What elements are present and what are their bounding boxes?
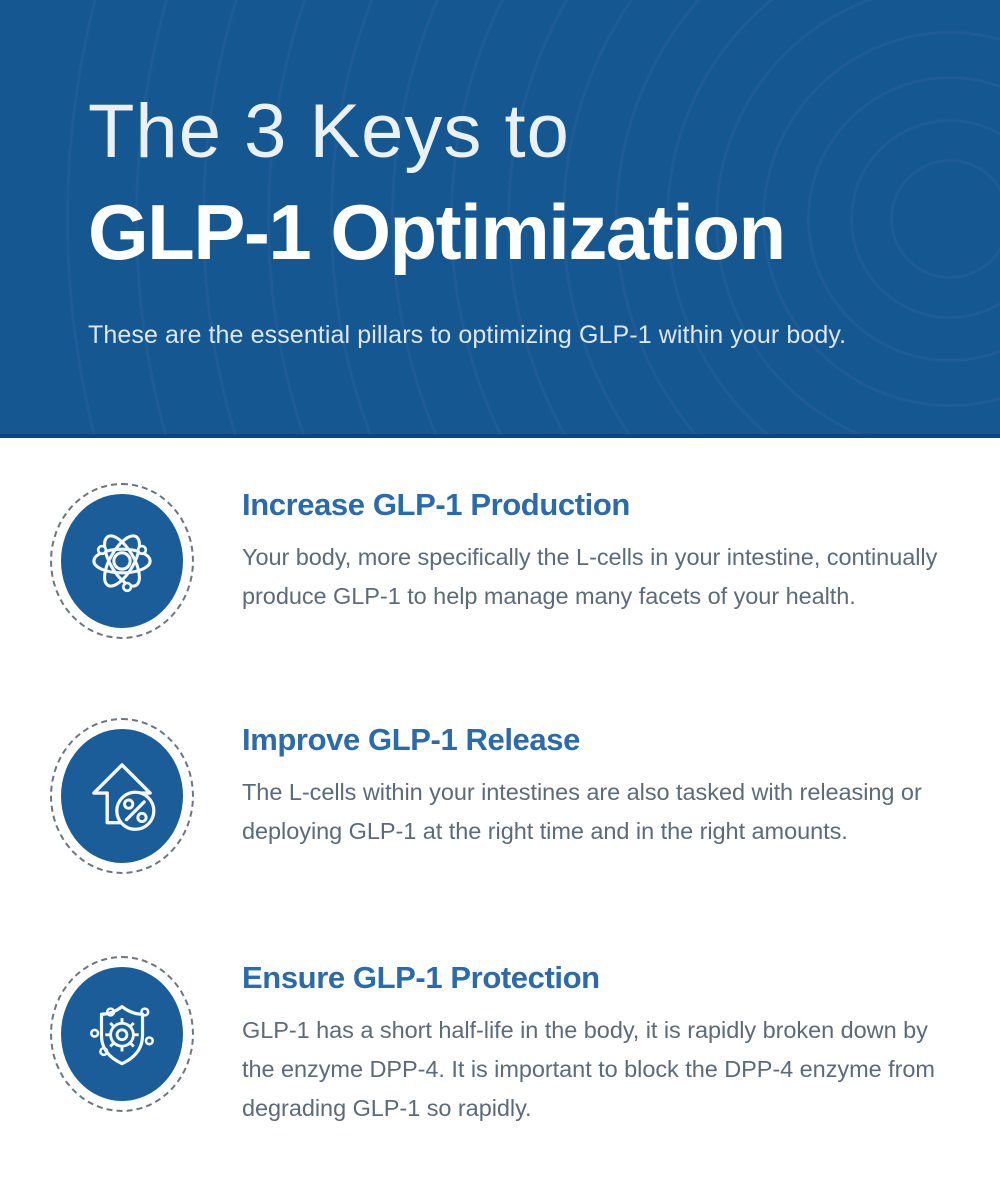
- atom-icon: [85, 524, 159, 598]
- page-title-line-2: GLP-1 Optimization: [88, 184, 948, 280]
- key-title: Ensure GLP-1 Protection: [242, 959, 952, 997]
- key-text-production: Increase GLP-1 Production Your body, mor…: [196, 480, 1000, 616]
- key-item-production: Increase GLP-1 Production Your body, mor…: [0, 480, 1000, 640]
- key-title: Improve GLP-1 Release: [242, 721, 952, 759]
- key-title: Increase GLP-1 Production: [242, 486, 952, 524]
- header-title-block: The 3 Keys to GLP-1 Optimization These a…: [88, 86, 948, 352]
- icon-badge-protection: [48, 953, 196, 1113]
- key-item-release: Improve GLP-1 Release The L-cells within…: [0, 715, 1000, 875]
- icon-circle: [61, 967, 183, 1101]
- icon-badge-release: [48, 715, 196, 875]
- icon-circle: [61, 729, 183, 863]
- icon-circle: [61, 494, 183, 628]
- key-item-protection: Ensure GLP-1 Protection GLP-1 has a shor…: [0, 953, 1000, 1128]
- header-banner: The 3 Keys to GLP-1 Optimization These a…: [0, 0, 1000, 438]
- key-description: Your body, more specifically the L-cells…: [242, 538, 952, 616]
- key-text-release: Improve GLP-1 Release The L-cells within…: [196, 715, 1000, 851]
- key-text-protection: Ensure GLP-1 Protection GLP-1 has a shor…: [196, 953, 1000, 1128]
- infographic-page: The 3 Keys to GLP-1 Optimization These a…: [0, 0, 1000, 1200]
- page-subtitle: These are the essential pillars to optim…: [88, 318, 948, 352]
- arrow-up-percent-icon: [85, 758, 159, 834]
- key-description: The L-cells within your intestines are a…: [242, 773, 952, 851]
- icon-badge-production: [48, 480, 196, 640]
- page-title-line-1: The 3 Keys to: [88, 86, 948, 178]
- key-description: GLP-1 has a short half-life in the body,…: [242, 1011, 952, 1128]
- shield-gear-icon: [84, 996, 160, 1072]
- keys-list: Increase GLP-1 Production Your body, mor…: [0, 438, 1000, 1200]
